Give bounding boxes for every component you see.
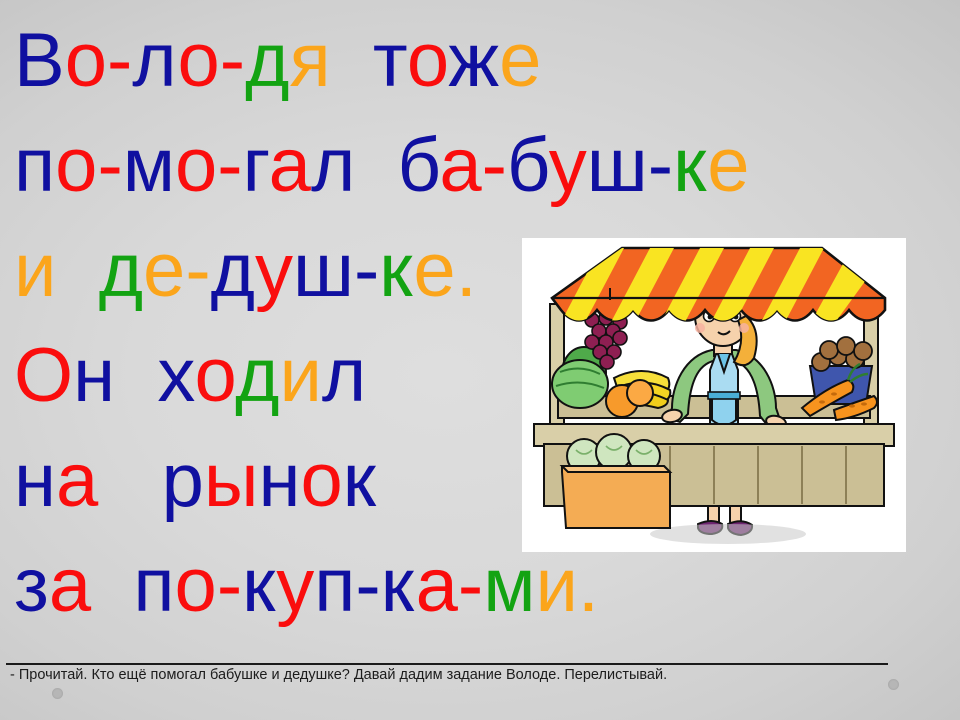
glyph: -	[185, 228, 210, 313]
glyph: е	[143, 228, 185, 313]
glyph: о	[65, 18, 107, 103]
slide-canvas: Во-ло-дя тоже по-мо-гал ба-буш-ке и де-д…	[0, 0, 960, 720]
glyph: м	[483, 543, 535, 628]
glyph: п	[314, 543, 355, 628]
glyph: о	[178, 18, 220, 103]
glyph	[115, 333, 157, 418]
glyph	[98, 438, 161, 523]
glyph: .	[578, 543, 599, 628]
glyph: р	[162, 438, 204, 523]
glyph	[56, 228, 98, 313]
glyph: х	[157, 333, 194, 418]
glyph: -	[97, 123, 122, 208]
glyph: г	[243, 123, 269, 208]
glyph: а	[56, 438, 98, 523]
glyph: б	[398, 123, 440, 208]
caption-divider	[6, 663, 888, 665]
nav-dot-right[interactable]	[888, 679, 899, 690]
glyph: а	[416, 543, 458, 628]
glyph: -	[648, 123, 673, 208]
glyph: ж	[448, 18, 499, 103]
glyph	[355, 123, 397, 208]
glyph: а	[49, 543, 91, 628]
market-stall-illustration	[522, 238, 906, 552]
glyph: м	[123, 123, 175, 208]
cabbage-crate	[562, 434, 670, 528]
glyph: е	[707, 123, 749, 208]
glyph: о	[175, 543, 217, 628]
glyph: а	[439, 123, 481, 208]
caption-text: - Прочитай. Кто ещё помогал бабушке и де…	[10, 666, 910, 684]
glyph: н	[73, 333, 115, 418]
glyph: о	[407, 18, 448, 103]
glyph: -	[217, 543, 242, 628]
glyph: у	[255, 228, 293, 313]
glyph: п	[133, 543, 174, 628]
ground-shadow	[650, 524, 806, 544]
glyph: ш	[587, 123, 648, 208]
glyph: к	[381, 543, 416, 628]
glyph: у	[276, 543, 314, 628]
glyph: -	[482, 123, 507, 208]
glyph: ш	[293, 228, 354, 313]
glyph: -	[354, 228, 379, 313]
glyph: о	[195, 333, 236, 418]
glyph: д	[235, 333, 279, 418]
glyph: л	[311, 123, 355, 208]
glyph: О	[14, 333, 73, 418]
glyph: к	[379, 228, 413, 313]
glyph: у	[549, 123, 587, 208]
glyph: д	[211, 228, 255, 313]
glyph: д	[99, 228, 143, 313]
glyph: а	[269, 123, 311, 208]
glyph: д	[245, 18, 289, 103]
glyph: к	[343, 438, 376, 523]
glyph: я	[289, 18, 330, 103]
text-line-1: Во-ло-дя тоже	[14, 8, 944, 113]
glyph: и	[14, 228, 56, 313]
glyph: о	[301, 438, 343, 523]
glyph: .	[456, 228, 477, 313]
glyph: б	[507, 123, 549, 208]
glyph: н	[259, 438, 301, 523]
glyph: е	[413, 228, 455, 313]
glyph: -	[217, 123, 242, 208]
nav-dot-left[interactable]	[52, 688, 63, 699]
glyph	[91, 543, 133, 628]
glyph: л	[322, 333, 366, 418]
glyph: о	[175, 123, 217, 208]
glyph: -	[107, 18, 132, 103]
text-line-2: по-мо-гал ба-буш-ке	[14, 113, 944, 218]
glyph: н	[14, 438, 56, 523]
glyph: п	[14, 123, 55, 208]
glyph: е	[499, 18, 541, 103]
glyph: и	[535, 543, 577, 628]
glyph: -	[355, 543, 380, 628]
glyph: -	[220, 18, 245, 103]
glyph: к	[673, 123, 707, 208]
glyph: к	[242, 543, 276, 628]
glyph: В	[14, 18, 65, 103]
glyph: ы	[204, 438, 259, 523]
glyph: т	[373, 18, 407, 103]
glyph: з	[14, 543, 49, 628]
glyph: л	[132, 18, 177, 103]
glyph: -	[458, 543, 483, 628]
glyph: о	[55, 123, 97, 208]
glyph	[331, 18, 373, 103]
glyph: и	[279, 333, 321, 418]
